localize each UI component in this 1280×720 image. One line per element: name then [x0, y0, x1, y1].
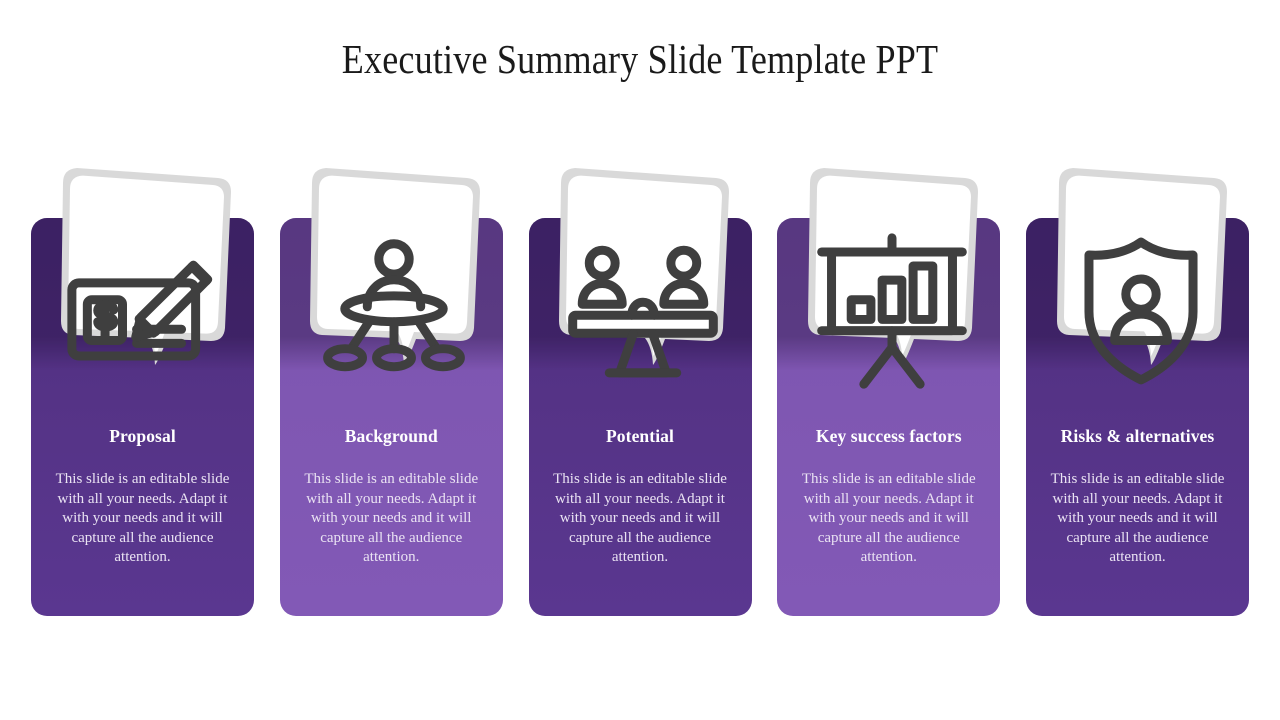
bubble-key-success-factors[interactable] — [802, 161, 982, 366]
balance-scale-people-icon — [553, 221, 733, 401]
page-title: Executive Summary Slide Template PPT — [77, 34, 1203, 84]
card-body-text: This slide is an editable slide with all… — [790, 470, 987, 568]
card-body-text: This slide is an editable slide with all… — [1039, 470, 1236, 568]
card-body-text: This slide is an editable slide with all… — [44, 470, 241, 568]
card-heading: Proposal — [37, 426, 248, 447]
card-heading: Potential — [535, 426, 746, 447]
shield-person-icon — [1051, 221, 1231, 401]
card-body-text: This slide is an editable slide with all… — [293, 470, 490, 568]
bubble-proposal[interactable] — [55, 161, 235, 366]
bubble-risks-alternatives[interactable] — [1051, 161, 1231, 366]
org-chart-person-icon — [304, 221, 484, 401]
card-heading: Key success factors — [783, 426, 994, 447]
card-body-text: This slide is an editable slide with all… — [542, 470, 739, 568]
cheque-signing-icon — [55, 221, 235, 401]
card-heading: Risks & alternatives — [1032, 426, 1243, 447]
presentation-chart-easel-icon — [802, 221, 982, 401]
bubble-potential[interactable] — [553, 161, 733, 366]
bubble-background[interactable] — [304, 161, 484, 366]
card-heading: Background — [286, 426, 497, 447]
